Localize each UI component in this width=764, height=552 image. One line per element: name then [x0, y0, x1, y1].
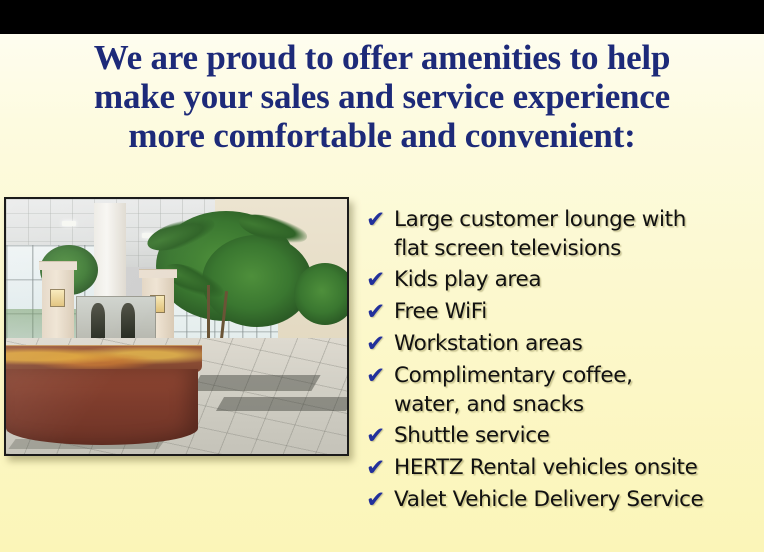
- photo-decorative-urn: [91, 303, 105, 343]
- list-item: ✔ Large customer lounge with flat screen…: [366, 205, 764, 263]
- page-title: We are proud to offer amenities to help …: [0, 38, 764, 155]
- check-icon: ✔: [366, 265, 394, 295]
- list-item-label: Kids play area: [394, 265, 764, 294]
- list-item: ✔ Complimentary coffee, water, and snack…: [366, 361, 764, 419]
- photo-floor-shadow: [216, 397, 347, 411]
- list-item-label: HERTZ Rental vehicles onsite: [394, 453, 764, 482]
- list-item: ✔ Workstation areas: [366, 329, 764, 359]
- check-icon: ✔: [366, 453, 394, 483]
- lobby-photo-image: [6, 199, 347, 454]
- photo-pier-cap-left: [39, 261, 77, 270]
- check-icon: ✔: [366, 421, 394, 451]
- heading-line-2: make your sales and service experience: [0, 77, 764, 116]
- photo-pier-cap-right: [139, 269, 177, 278]
- photo-reception-desk-base: [6, 369, 198, 445]
- photo-decorative-urn: [121, 303, 135, 343]
- check-icon: ✔: [366, 485, 394, 515]
- photo-floor-shadow: [191, 375, 320, 391]
- list-item: ✔ Kids play area: [366, 265, 764, 295]
- photo-wall-sconce-left: [50, 289, 65, 307]
- amenities-list: ✔ Large customer lounge with flat screen…: [366, 205, 764, 517]
- photo-palm-right: [294, 263, 347, 325]
- photo-ceiling-light: [62, 221, 76, 226]
- list-item: ✔ Free WiFi: [366, 297, 764, 327]
- top-black-bar: [0, 0, 764, 34]
- photo-reception-desk-counter: [6, 345, 202, 372]
- list-item: ✔ Valet Vehicle Delivery Service: [366, 485, 764, 515]
- heading-line-1: We are proud to offer amenities to help: [0, 38, 764, 77]
- check-icon: ✔: [366, 329, 394, 359]
- photo-niche-mirror: [76, 296, 156, 344]
- list-item: ✔ HERTZ Rental vehicles onsite: [366, 453, 764, 483]
- list-item-label: Valet Vehicle Delivery Service: [394, 485, 764, 514]
- slide-canvas: We are proud to offer amenities to help …: [0, 0, 764, 552]
- list-item-label: Large customer lounge with flat screen t…: [394, 205, 764, 263]
- heading-line-3: more comfortable and convenient:: [0, 116, 764, 155]
- check-icon: ✔: [366, 205, 394, 235]
- list-item-label: Workstation areas: [394, 329, 764, 358]
- list-item-label: Shuttle service: [394, 421, 764, 450]
- list-item-label: Free WiFi: [394, 297, 764, 326]
- list-item-label: Complimentary coffee, water, and snacks: [394, 361, 764, 419]
- lobby-photo: [4, 197, 349, 456]
- list-item: ✔ Shuttle service: [366, 421, 764, 451]
- check-icon: ✔: [366, 297, 394, 327]
- check-icon: ✔: [366, 361, 394, 391]
